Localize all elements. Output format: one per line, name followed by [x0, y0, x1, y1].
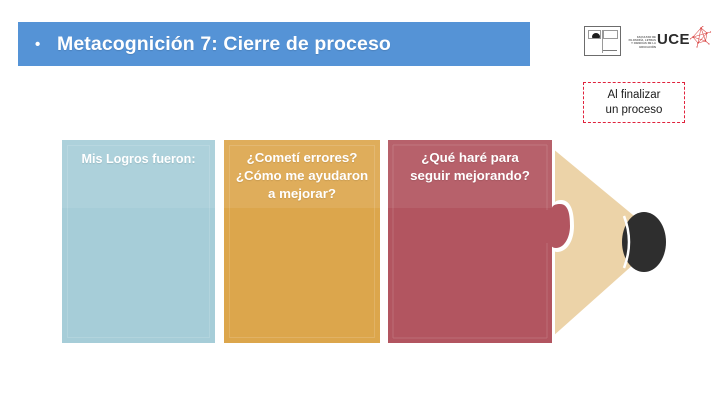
- puzzle-piece-mejorar[interactable]: ¿Qué haré para seguir mejorando?: [388, 140, 566, 343]
- puzzle-piece-logros-label: Mis Logros fueron:: [62, 150, 215, 168]
- uce-wordmark: UCE: [657, 32, 690, 48]
- institution-logo-crest-icon: [592, 33, 600, 39]
- institution-logo-textblock: [603, 30, 618, 39]
- puzzle-piece-logros-fill: [62, 140, 215, 343]
- red-network-star-icon: [690, 26, 712, 52]
- puzzle-piece-errores[interactable]: ¿Cometí errores? ¿Cómo me ayudaron a mej…: [224, 140, 380, 343]
- puzzle-piece-mejorar-label: ¿Qué haré para seguir mejorando?: [388, 149, 552, 185]
- page-title: Metacognición 7: Cierre de proceso: [57, 33, 391, 56]
- logo-group: FACULTAD DE FILOSOFÍA, LETRAS Y CIENCIAS…: [582, 18, 712, 64]
- puzzle-piece-logros[interactable]: Mis Logros fueron:: [62, 140, 215, 343]
- title-bullet-icon: •: [35, 37, 57, 52]
- slide-canvas: • Metacognición 7: Cierre de proceso FAC…: [0, 0, 720, 405]
- institution-logo-crest-box: [588, 30, 601, 39]
- institution-logo-baseline: [603, 50, 617, 51]
- callout-box: Al finalizar un proceso: [583, 82, 685, 123]
- uce-logo: FACULTAD DE FILOSOFÍA, LETRAS Y CIENCIAS…: [628, 30, 710, 56]
- callout-label: Al finalizar un proceso: [606, 88, 663, 117]
- puzzle-piece-errores-label: ¿Cometí errores? ¿Cómo me ayudaron a mej…: [224, 149, 380, 203]
- pencil-graphite-tip: [622, 212, 666, 272]
- slide-title-bar: • Metacognición 7: Cierre de proceso: [18, 22, 530, 66]
- uce-faculty-label: FACULTAD DE FILOSOFÍA, LETRAS Y CIENCIAS…: [628, 36, 656, 49]
- institution-logo-icon: [584, 26, 621, 56]
